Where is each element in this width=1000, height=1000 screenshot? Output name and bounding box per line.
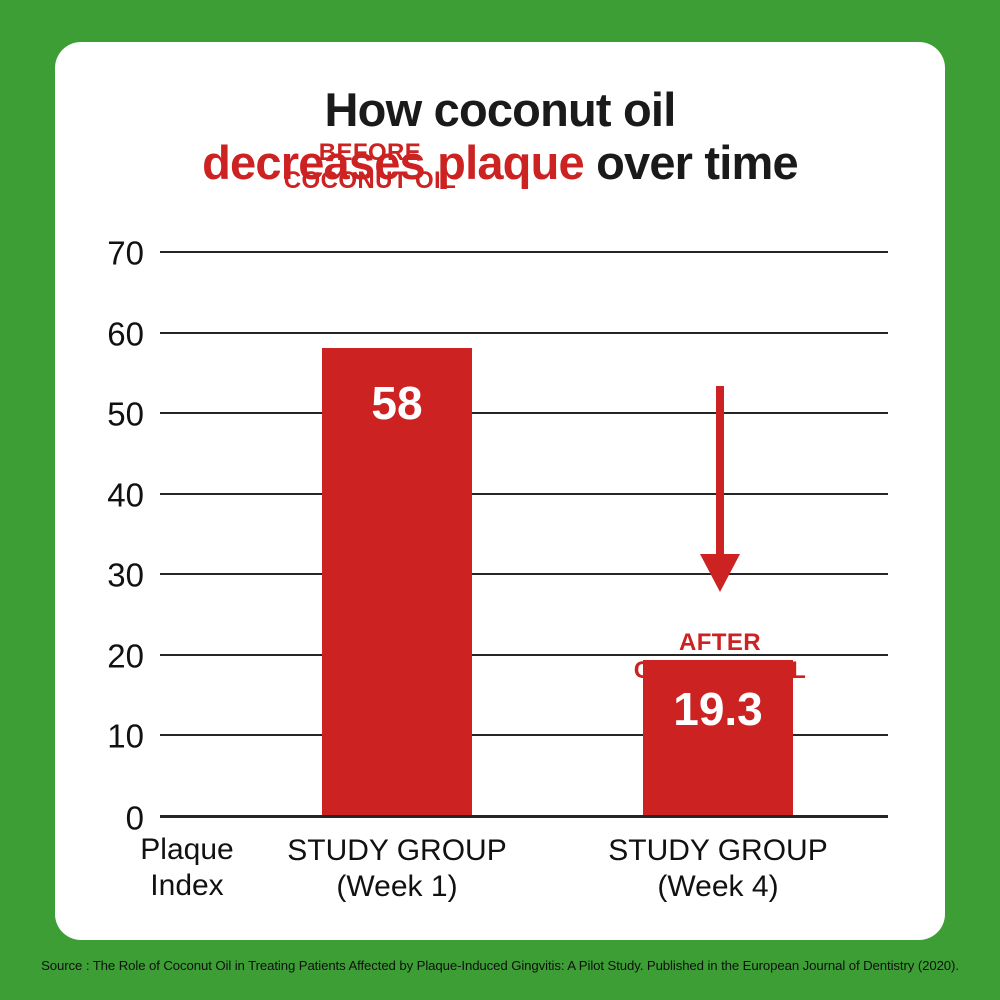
down-arrow-icon [690, 386, 750, 596]
bar-study-group-week-1[interactable]: 58 [322, 348, 472, 815]
bar-study-group-week-4[interactable]: 19.3 [643, 660, 793, 816]
bar-value-label-week-4: 19.3 [643, 682, 793, 736]
title-suffix: over time [584, 136, 798, 189]
category-label-week-4: STUDY GROUP (Week 4) [598, 833, 838, 905]
ytick-label-50: 50 [107, 398, 144, 431]
gridline-0-baseline: 0 [160, 815, 888, 818]
ytick-label-30: 30 [107, 559, 144, 592]
chart-plot-area: 70 60 50 40 30 20 10 0 BEFORE COCONUT OI… [160, 251, 888, 815]
annotation-before-coconut-oil: BEFORE COCONUT OIL [260, 139, 480, 196]
bar-value-label-week-1: 58 [322, 376, 472, 430]
ytick-label-60: 60 [107, 317, 144, 350]
title-line-2: decreases plaque over time [55, 137, 945, 190]
gridline-70: 70 [160, 251, 888, 253]
infographic-card: How coconut oil decreases plaque over ti… [55, 42, 945, 940]
gridline-30: 30 [160, 573, 888, 575]
gridline-40: 40 [160, 493, 888, 495]
gridline-50: 50 [160, 412, 888, 414]
ytick-label-0: 0 [126, 802, 144, 835]
ytick-label-70: 70 [107, 237, 144, 270]
source-footnote: Source : The Role of Coconut Oil in Trea… [0, 958, 1000, 973]
page-title: How coconut oil decreases plaque over ti… [55, 84, 945, 189]
ytick-label-10: 10 [107, 720, 144, 753]
category-label-week-1: STUDY GROUP (Week 1) [277, 833, 517, 905]
ytick-label-20: 20 [107, 639, 144, 672]
title-line-1: How coconut oil [55, 84, 945, 137]
ytick-label-40: 40 [107, 478, 144, 511]
y-axis-title: Plaque Index [127, 832, 247, 904]
gridline-60: 60 [160, 332, 888, 334]
